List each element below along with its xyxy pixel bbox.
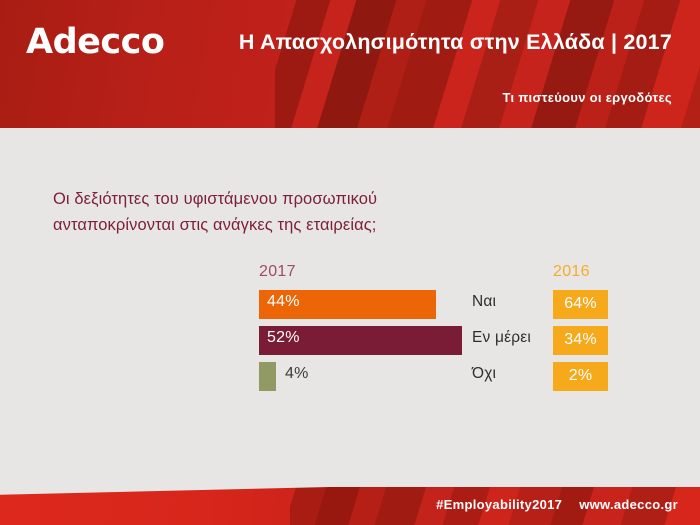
box-value-2016: 34% <box>553 326 608 355</box>
chart-row: 4% Όχι 2% <box>0 362 700 391</box>
column-header-2016: 2016 <box>553 263 590 281</box>
value-box-2016: 64% <box>553 290 608 319</box>
box-value-2016: 64% <box>553 290 608 319</box>
category-label: Όχι <box>472 365 496 383</box>
question-line-2: ανταποκρίνονται στις ανάγκες της εταιρεί… <box>53 212 573 238</box>
bar-chart: 2017 2016 44% Ναι 64% 52% Εν μέρει 34% 4… <box>0 258 700 398</box>
bar-2017 <box>259 362 276 391</box>
bar-value-2017: 52% <box>267 329 300 347</box>
value-box-2016: 34% <box>553 326 608 355</box>
footer-website[interactable]: www.adecco.gr <box>579 497 678 512</box>
header-diagonal-stripes <box>275 0 700 128</box>
question-line-1: Οι δεξιότητες του υφιστάμενου προσωπικού <box>53 186 573 212</box>
page-title: Η Απασχολησιμότητα στην Ελλάδα | 2017 <box>239 30 672 55</box>
chart-row: 44% Ναι 64% <box>0 290 700 319</box>
page-header: Adecco Η Απασχολησιμότητα στην Ελλάδα | … <box>0 0 700 128</box>
question-text: Οι δεξιότητες του υφιστάμενου προσωπικού… <box>53 186 573 238</box>
column-header-2017: 2017 <box>259 263 296 281</box>
category-label: Ναι <box>472 293 496 311</box>
bar-value-2017: 4% <box>285 365 309 383</box>
category-label: Εν μέρει <box>472 329 531 347</box>
bar-value-2017: 44% <box>267 293 300 311</box>
bar-2017: 44% <box>259 290 436 319</box>
chart-row: 52% Εν μέρει 34% <box>0 326 700 355</box>
adecco-logo: Adecco <box>26 22 164 62</box>
footer-text: #Employability2017 www.adecco.gr <box>436 497 678 512</box>
box-value-2016: 2% <box>553 362 608 391</box>
value-box-2016: 2% <box>553 362 608 391</box>
bar-2017: 52% <box>259 326 462 355</box>
footer-hashtag: #Employability2017 <box>436 497 562 512</box>
page-subtitle: Τι πιστεύουν οι εργοδότες <box>502 90 672 105</box>
